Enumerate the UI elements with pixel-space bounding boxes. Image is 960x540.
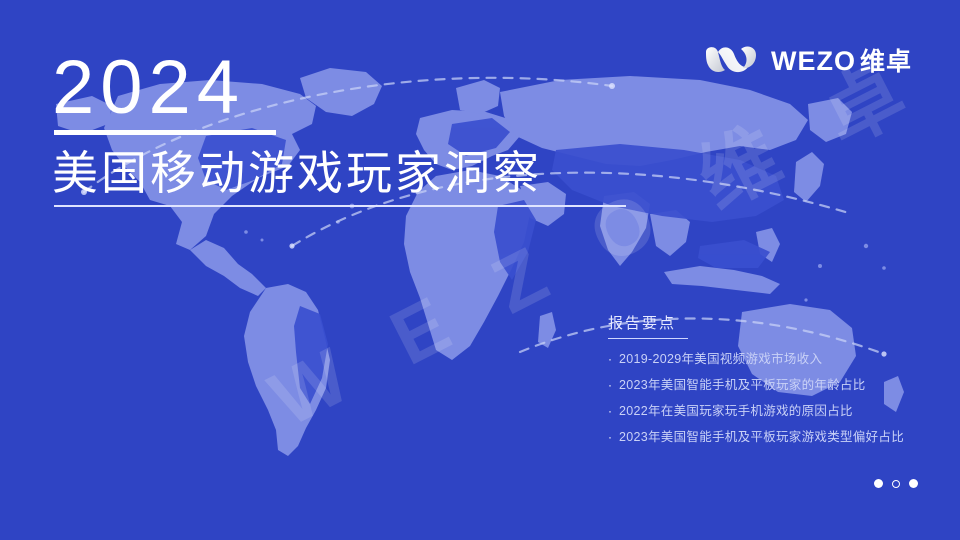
bullet-icon: · (608, 349, 612, 370)
wezo-w-mark (703, 43, 759, 77)
pager-dot-1[interactable] (874, 479, 883, 488)
list-item[interactable]: · 2023年美国智能手机及平板玩家游戏类型偏好占比 (608, 427, 908, 448)
title-slide: W E Z O 维 卓 WEZO 维卓 2024 (0, 0, 960, 540)
list-item[interactable]: · 2022年在美国玩家玩手机游戏的原因占比 (608, 401, 908, 422)
wezo-brand-cn: 维卓 (860, 42, 912, 78)
pager-dot-3[interactable] (909, 479, 918, 488)
report-points-heading: 报告要点 (608, 312, 676, 336)
pager-dot-2[interactable] (892, 480, 900, 488)
bullet-icon: · (608, 375, 612, 396)
list-item-label: 2022年在美国玩家玩手机游戏的原因占比 (619, 401, 853, 422)
wezo-wordmark: WEZO 维卓 (771, 42, 912, 78)
wezo-logo[interactable]: WEZO 维卓 (703, 42, 912, 78)
report-points-block: 报告要点 · 2019-2029年美国视频游戏市场收入 · 2023年美国智能手… (608, 312, 908, 453)
title-underline (54, 205, 626, 207)
list-item-label: 2019-2029年美国视频游戏市场收入 (619, 349, 822, 370)
page-title: 美国移动游戏玩家洞察 (52, 145, 626, 201)
headline-block: 2024 美国移动游戏玩家洞察 (52, 48, 626, 207)
list-item-label: 2023年美国智能手机及平板玩家游戏类型偏好占比 (619, 427, 904, 448)
report-points-list: · 2019-2029年美国视频游戏市场收入 · 2023年美国智能手机及平板玩… (608, 349, 908, 448)
slide-pager[interactable] (874, 479, 918, 488)
bullet-icon: · (608, 427, 612, 448)
list-item[interactable]: · 2023年美国智能手机及平板玩家的年龄占比 (608, 375, 908, 396)
wezo-brand-latin: WEZO (771, 46, 856, 77)
year-underline (54, 130, 276, 135)
report-points-underline (608, 338, 688, 339)
year-heading: 2024 (52, 48, 626, 128)
list-item[interactable]: · 2019-2029年美国视频游戏市场收入 (608, 349, 908, 370)
list-item-label: 2023年美国智能手机及平板玩家的年龄占比 (619, 375, 866, 396)
bullet-icon: · (608, 401, 612, 422)
